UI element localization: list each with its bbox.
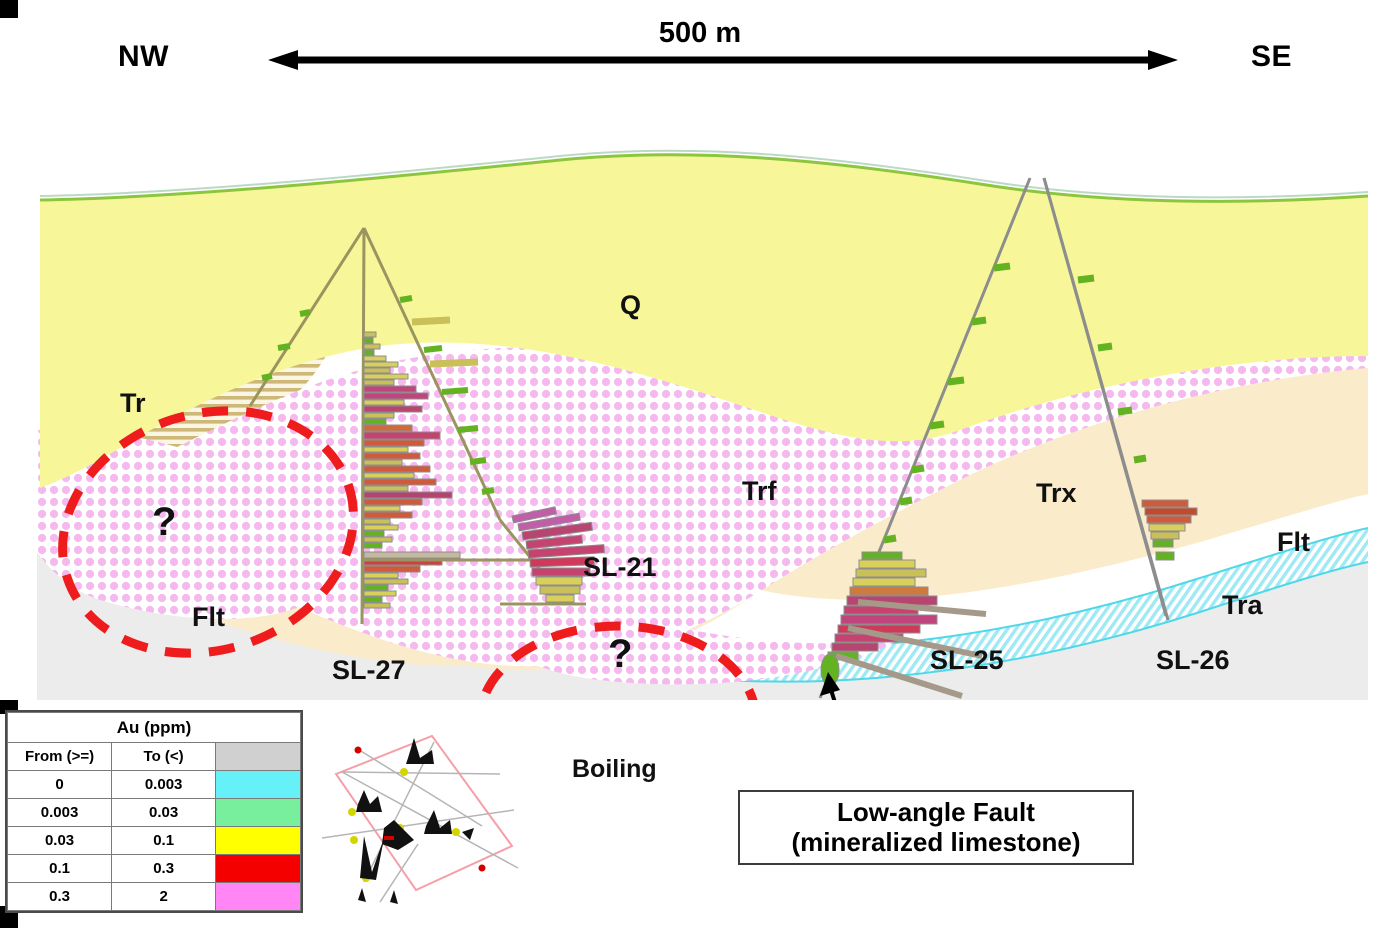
legend-swatch-3 bbox=[216, 855, 301, 883]
direction-label-se: SE bbox=[1251, 40, 1292, 74]
legend-row: 0 0.003 bbox=[8, 771, 301, 799]
legend-to-0: 0.003 bbox=[112, 771, 216, 799]
legend-table: Au (ppm) From (>=) To (<) 0 0.003 0.003 … bbox=[7, 712, 301, 911]
legend-title-row: Au (ppm) bbox=[8, 713, 301, 743]
legend-col-to: To (<) bbox=[112, 743, 216, 771]
legend-swatch-1 bbox=[216, 799, 301, 827]
legend-from-1: 0.003 bbox=[8, 799, 112, 827]
legend-from-3: 0.1 bbox=[8, 855, 112, 883]
drillhole-label-sl-26: SL-26 bbox=[1156, 645, 1230, 676]
legend-row: 0.03 0.1 bbox=[8, 827, 301, 855]
legend-col-swatch-header bbox=[216, 743, 301, 771]
unit-label-trf: Trf bbox=[742, 476, 777, 507]
question-mark-left: ? bbox=[152, 500, 176, 545]
legend-title: Au (ppm) bbox=[8, 713, 301, 743]
unit-label-trx: Trx bbox=[1036, 478, 1077, 509]
legend-to-4: 2 bbox=[112, 883, 216, 911]
legend-to-2: 0.1 bbox=[112, 827, 216, 855]
scale-length-label: 500 m bbox=[0, 17, 1400, 50]
legend-to-1: 0.03 bbox=[112, 799, 216, 827]
legend-from-2: 0.03 bbox=[8, 827, 112, 855]
legend-from-4: 0.3 bbox=[8, 883, 112, 911]
legend-row: 0.003 0.03 bbox=[8, 799, 301, 827]
direction-label-nw: NW bbox=[118, 40, 169, 74]
unit-label-flt-left: Flt bbox=[192, 602, 225, 633]
drillhole-label-sl-27: SL-27 bbox=[332, 655, 406, 686]
au-grade-legend: Au (ppm) From (>=) To (<) 0 0.003 0.003 … bbox=[5, 710, 303, 913]
drillhole-label-sl-25: SL-25 bbox=[930, 645, 1004, 676]
cross-section-figure: 500 m NW SE bbox=[0, 0, 1400, 928]
drillhole-label-sl-21: SL-21 bbox=[583, 552, 657, 583]
legend-swatch-0 bbox=[216, 771, 301, 799]
legend-swatch-2 bbox=[216, 827, 301, 855]
low-angle-fault-callout: Low-angle Fault (mineralized limestone) bbox=[738, 790, 1134, 865]
legend-row: 0.3 2 bbox=[8, 883, 301, 911]
unit-label-tra: Tra bbox=[1222, 590, 1263, 621]
callout-line-1: Low-angle Fault bbox=[837, 798, 1035, 827]
legend-row: 0.1 0.3 bbox=[8, 855, 301, 883]
unit-label-tr: Tr bbox=[120, 388, 146, 419]
inset-plan-map bbox=[322, 732, 537, 917]
callout-line-2: (mineralized limestone) bbox=[792, 828, 1081, 857]
legend-to-3: 0.3 bbox=[112, 855, 216, 883]
legend-from-0: 0 bbox=[8, 771, 112, 799]
legend-swatch-4 bbox=[216, 883, 301, 911]
scale-header: 500 m NW SE bbox=[0, 0, 1400, 100]
geologic-section: Q Tr Trf Trx Flt Flt Tra SL-27 SL-21 SL-… bbox=[0, 100, 1400, 700]
legend-col-from: From (>=) bbox=[8, 743, 112, 771]
question-mark-bottom: ? bbox=[608, 632, 632, 677]
scale-bar-arrow bbox=[268, 50, 1178, 70]
unit-label-q: Q bbox=[620, 290, 641, 321]
unit-label-flt-right: Flt bbox=[1277, 527, 1310, 558]
boiling-annotation: Boiling bbox=[572, 755, 657, 784]
legend-header-row: From (>=) To (<) bbox=[8, 743, 301, 771]
